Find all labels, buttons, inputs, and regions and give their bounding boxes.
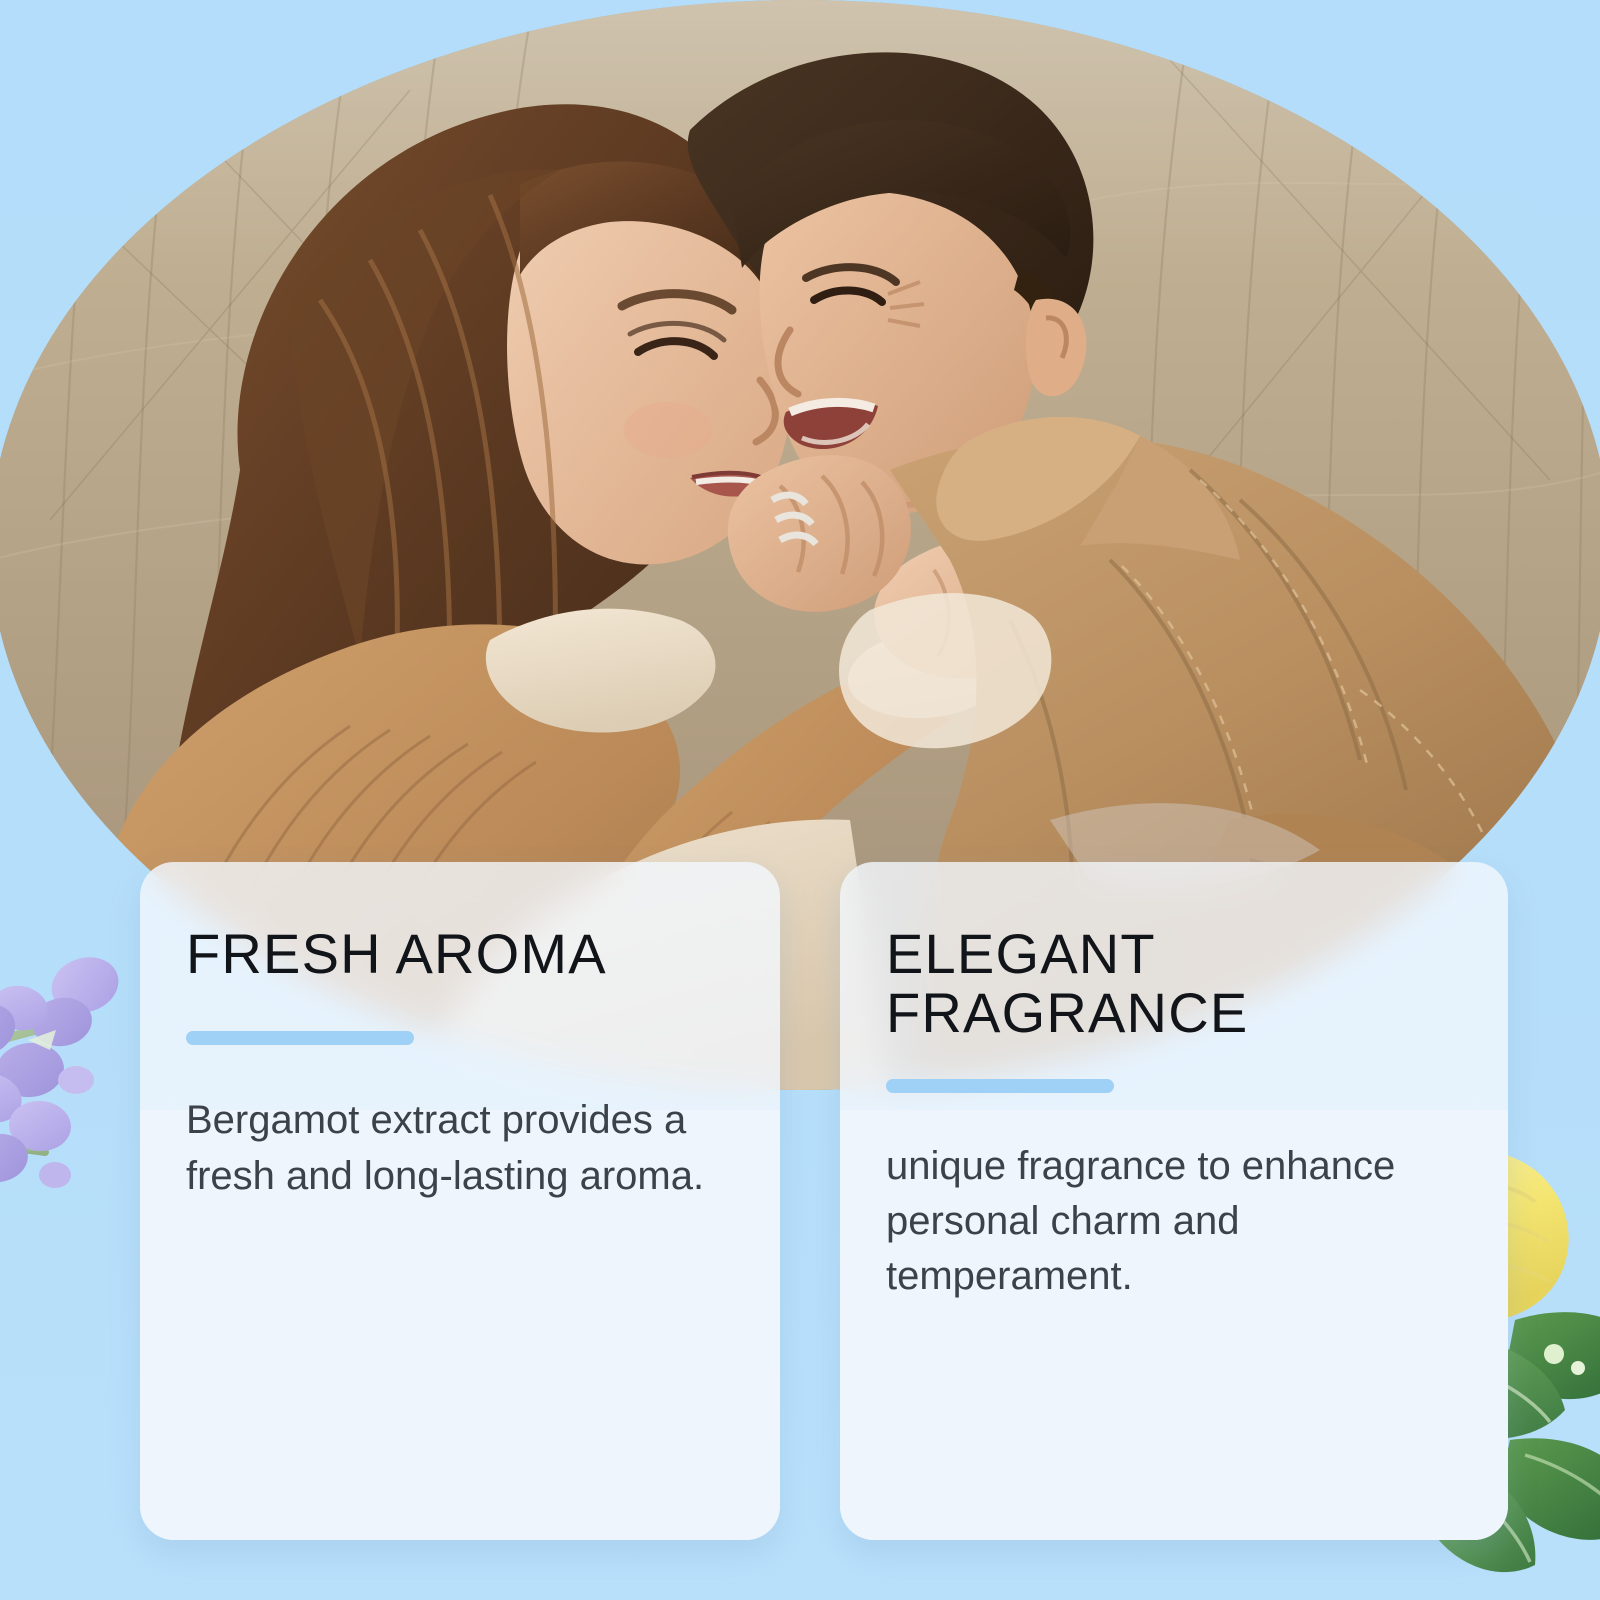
card-divider-bar	[886, 1079, 1114, 1093]
card-body-text: unique fragrance to enhance personal cha…	[886, 1139, 1462, 1305]
poster-canvas: FRESH AROMA Bergamot extract provides a …	[0, 0, 1600, 1600]
card-divider-bar	[186, 1031, 414, 1045]
feature-card-fresh-aroma: FRESH AROMA Bergamot extract provides a …	[140, 862, 780, 1540]
feature-card-elegant-fragrance: ELEGANT FRAGRANCE unique fragrance to en…	[840, 862, 1508, 1540]
card-title: FRESH AROMA	[186, 924, 734, 983]
card-body-text: Bergamot extract provides a fresh and lo…	[186, 1093, 734, 1203]
card-title: ELEGANT FRAGRANCE	[886, 924, 1462, 1043]
